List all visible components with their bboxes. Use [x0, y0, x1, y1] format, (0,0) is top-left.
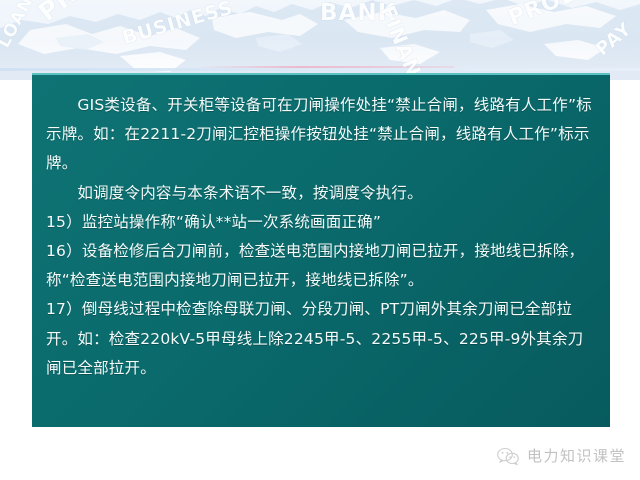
brand-name-label: 电力知识课堂	[527, 445, 626, 466]
pink-accent-line	[196, 66, 454, 68]
world-map-graphic	[0, 0, 640, 80]
body-paragraph: 15）监控站操作称“确认**站一次系统画面正确”	[46, 208, 596, 237]
watermark-word: LOANS	[0, 0, 44, 51]
watermark-word: PRODUCT	[505, 0, 631, 31]
watermark-word: BANK	[320, 0, 396, 26]
body-paragraph: 16）设备检修后合刀闸前，检查送电范围内接地刀闸已拉开，接地线已拆除，称“检查送…	[46, 237, 596, 295]
content-panel: GIS类设备、开关柜等设备可在刀闸操作处挂“禁止合闸，线路有人工作”标示牌。如：…	[32, 73, 610, 427]
slide-canvas: PROFITLOANSBUSINESSBANKFINANCYPRODUCTPAY…	[0, 0, 640, 480]
slide-body-text: GIS类设备、开关柜等设备可在刀闸操作处挂“禁止合闸，线路有人工作”标示牌。如：…	[46, 91, 596, 383]
watermark-word: PAY	[592, 18, 636, 60]
wechat-icon	[496, 446, 520, 466]
watermark-word: PROFIT	[33, 0, 136, 27]
blue-accent-line	[0, 68, 640, 71]
watermark-word: BUSINESS	[120, 0, 236, 49]
body-paragraph: 如调度令内容与本条术语不一致，按调度令执行。	[46, 179, 596, 208]
body-paragraph: GIS类设备、开关柜等设备可在刀闸操作处挂“禁止合闸，线路有人工作”标示牌。如：…	[46, 91, 596, 179]
body-paragraph: 17）倒母线过程中检查除母联刀闸、分段刀闸、PT刀闸外其余刀闸已全部拉开。如：检…	[46, 295, 596, 383]
top-gradient-band	[0, 0, 640, 74]
footer-brand[interactable]: 电力知识课堂	[496, 445, 626, 466]
